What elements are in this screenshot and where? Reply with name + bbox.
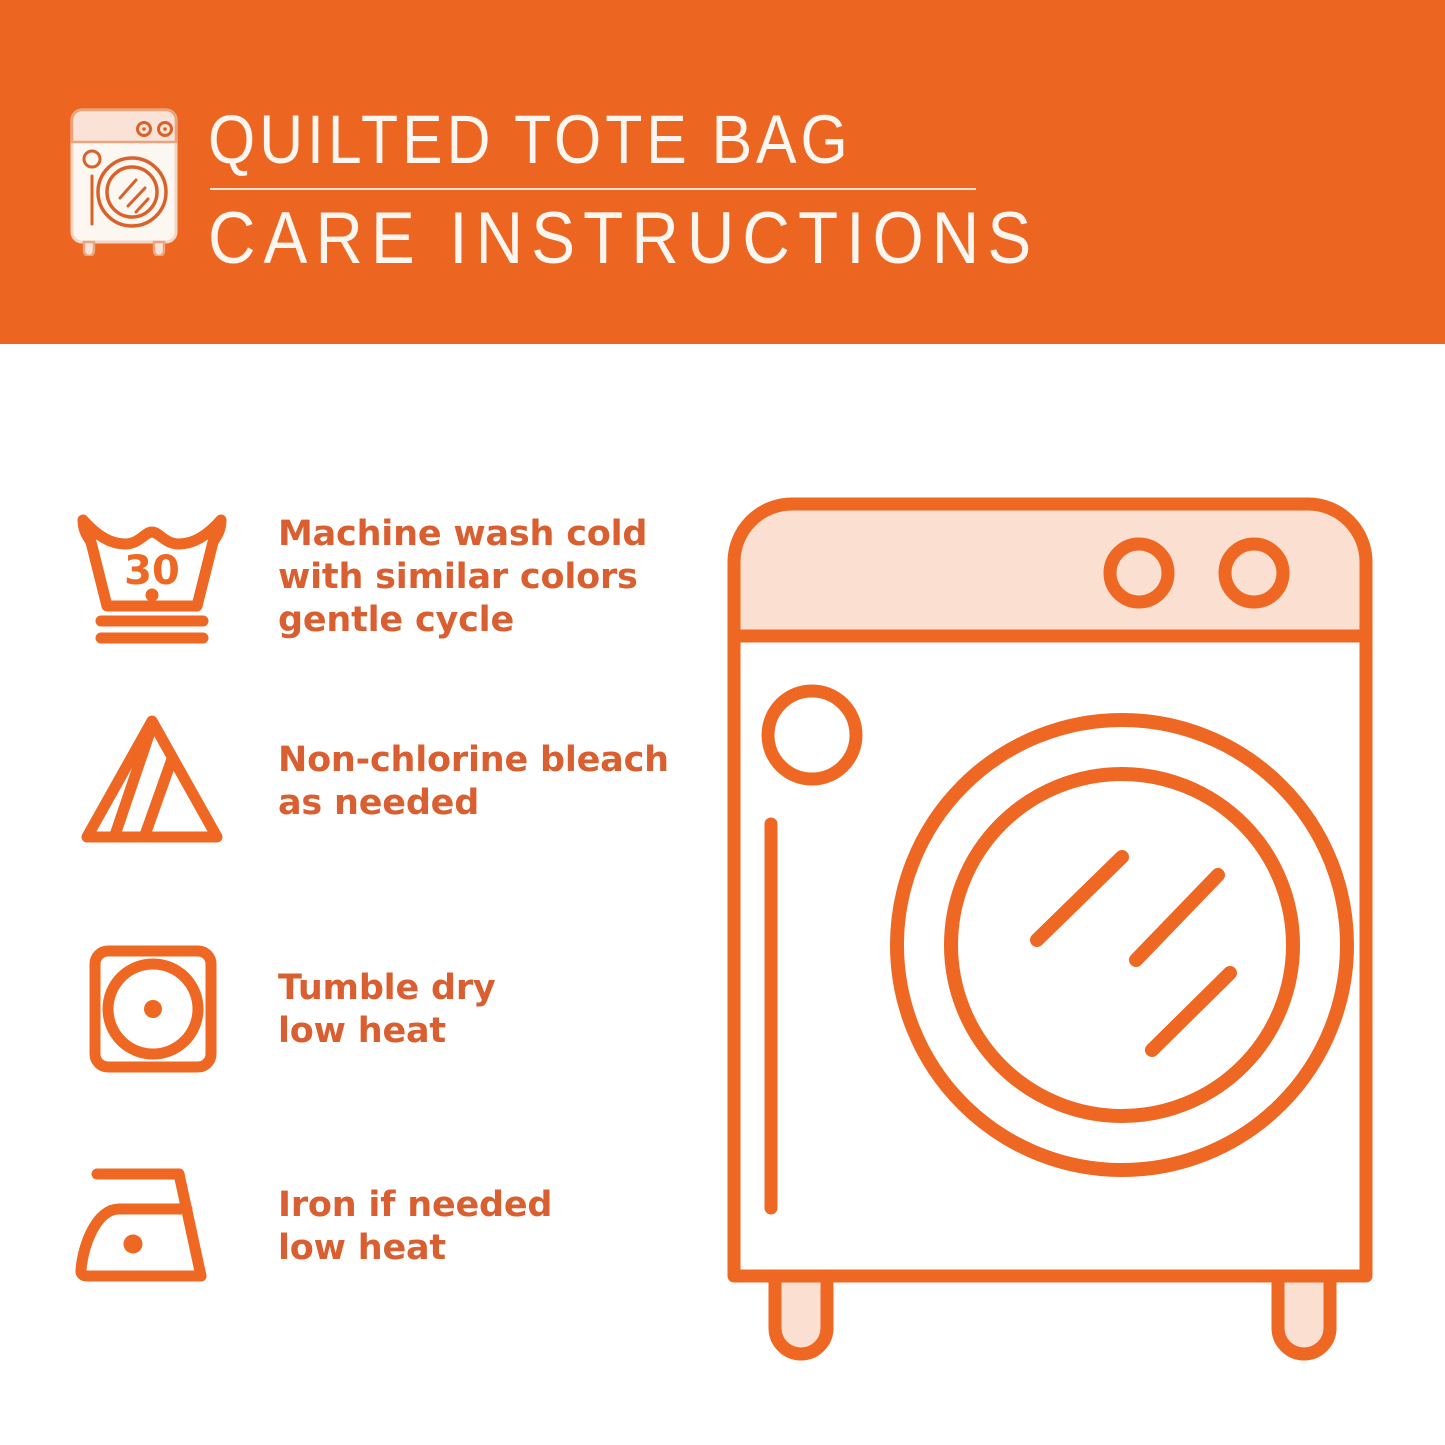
title-divider <box>210 188 976 190</box>
page-subtitle: CARE INSTRUCTIONS <box>208 200 1039 278</box>
door-shine-lines <box>1037 857 1230 1050</box>
page-title: QUILTED TOTE BAG <box>208 104 852 176</box>
care-label-iron: Iron if needed low heat <box>278 1184 552 1270</box>
care-label-line: Machine wash cold <box>278 513 647 556</box>
care-row-machine-wash: 30 Machine wash cold with similar colors… <box>62 497 682 657</box>
wash-temperature-label: 30 <box>124 548 180 594</box>
header-band: QUILTED TOTE BAG CARE INSTRUCTIONS <box>0 0 1445 344</box>
care-row-iron: Iron if needed low heat <box>62 1152 682 1302</box>
care-label-line: low heat <box>278 1010 496 1053</box>
care-label-line: Iron if needed <box>278 1184 552 1227</box>
care-row-non-chlorine-bleach: Non-chlorine bleach as needed <box>62 707 682 857</box>
care-row-tumble-dry: Tumble dry low heat <box>62 932 682 1087</box>
washing-machine-illustration <box>700 470 1400 1380</box>
washing-machine-icon <box>66 104 182 256</box>
iron-low-heat-icon <box>62 1152 242 1302</box>
care-label-line: as needed <box>278 782 669 825</box>
care-label-line: Tumble dry <box>278 967 496 1010</box>
care-instructions-infographic: QUILTED TOTE BAG CARE INSTRUCTIONS 30 <box>0 0 1445 1445</box>
care-label-line: Non-chlorine bleach <box>278 739 669 782</box>
care-label-line: low heat <box>278 1227 552 1270</box>
start-button <box>768 691 856 779</box>
care-label-line: gentle cycle <box>278 599 647 642</box>
non-chlorine-bleach-triangle-icon <box>62 707 242 857</box>
door-outer-ring <box>897 720 1347 1170</box>
leg-right <box>1278 1276 1330 1354</box>
care-label-machine-wash: Machine wash cold with similar colors ge… <box>278 513 647 642</box>
care-label-non-chlorine-bleach: Non-chlorine bleach as needed <box>278 739 669 825</box>
care-label-tumble-dry: Tumble dry low heat <box>278 967 496 1053</box>
machine-wash-30-gentle-icon: 30 <box>62 502 242 652</box>
care-label-line: with similar colors <box>278 556 647 599</box>
tumble-dry-low-heat-icon <box>62 935 242 1085</box>
header-text-block: QUILTED TOTE BAG CARE INSTRUCTIONS <box>208 104 1028 264</box>
control-panel <box>734 504 1366 636</box>
door-inner-ring <box>951 774 1293 1116</box>
leg-left <box>775 1276 827 1354</box>
